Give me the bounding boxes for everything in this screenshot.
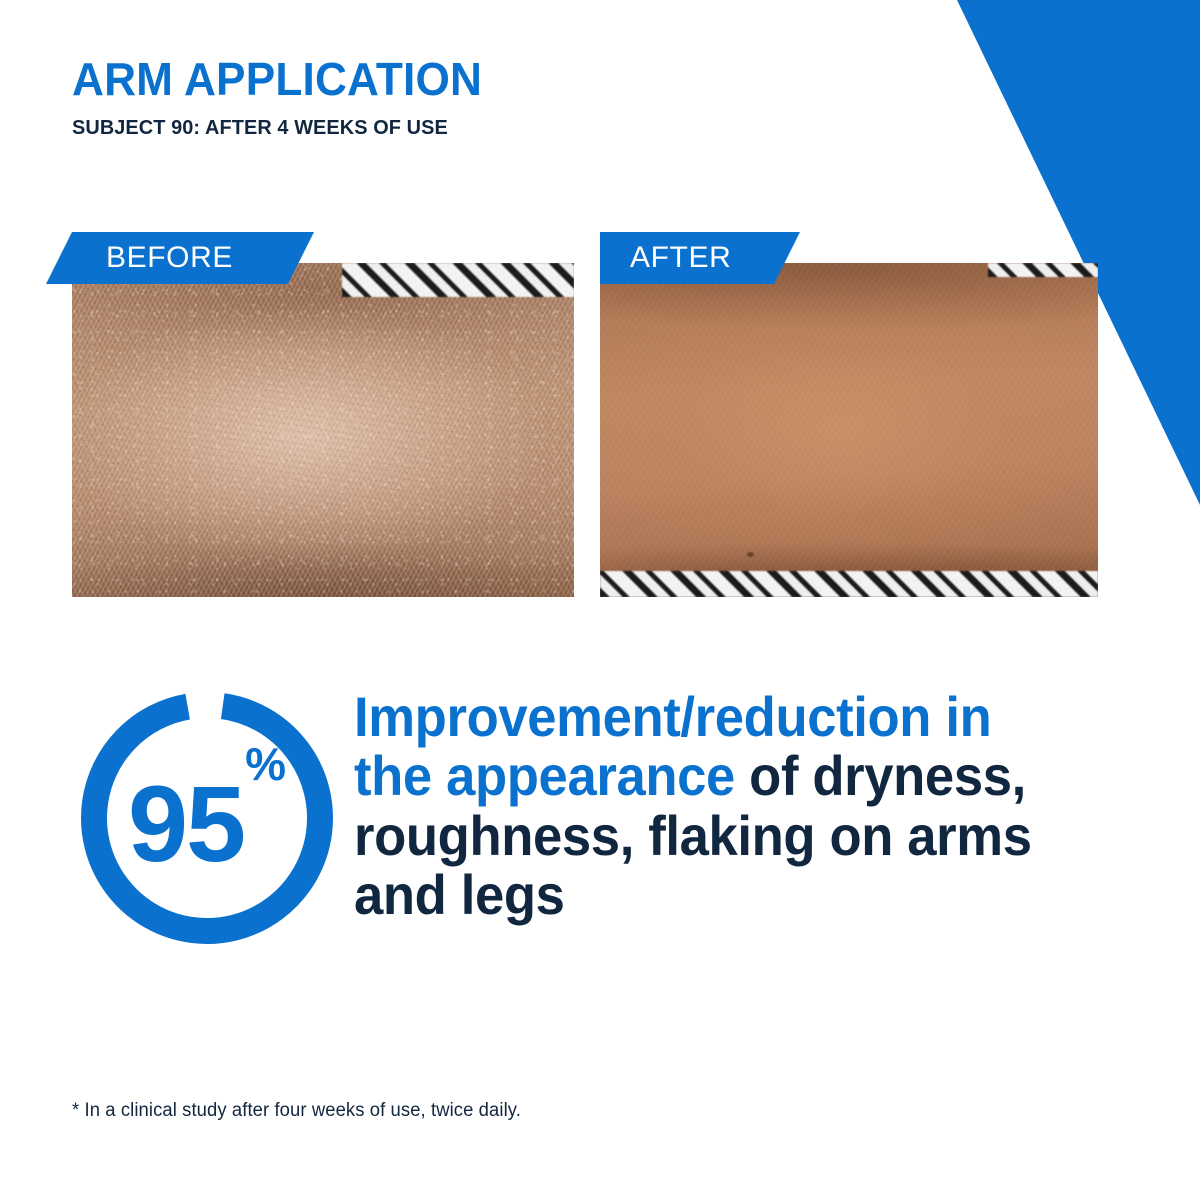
stat-row: 95 % Improvement/reduction in the appear… xyxy=(72,683,1132,953)
page-title: ARM APPLICATION xyxy=(72,56,482,102)
after-smooth-texture xyxy=(600,263,1098,597)
before-flag-label: BEFORE xyxy=(46,232,314,284)
before-fabric-pattern xyxy=(342,263,574,297)
after-photo xyxy=(600,263,1098,597)
subject-detail: AFTER 4 WEEKS OF USE xyxy=(200,116,448,139)
percent-donut-chart: 95 % xyxy=(72,683,342,953)
before-flag-text: BEFORE xyxy=(106,243,233,273)
after-fabric-pattern-bottom xyxy=(600,571,1098,597)
header: ARM APPLICATION SUBJECT 90: AFTER 4 WEEK… xyxy=(72,56,499,139)
after-fabric-pattern-top xyxy=(988,263,1098,277)
subject-label: SUBJECT 90: xyxy=(72,116,200,139)
percent-symbol: % xyxy=(245,741,286,787)
donut-center-label: 95 % xyxy=(72,683,342,953)
blue-corner-wedge-icon xyxy=(0,0,1200,1200)
claim-statement: Improvement/reduction in the appearance … xyxy=(354,683,1068,924)
before-ash-speckle xyxy=(72,263,574,597)
footnote: * In a clinical study after four weeks o… xyxy=(72,1100,521,1122)
after-flag-text: AFTER xyxy=(630,243,731,273)
before-photo xyxy=(72,263,574,597)
after-skin-mole xyxy=(747,552,754,557)
percent-value: 95 xyxy=(128,770,244,878)
infographic-page: ARM APPLICATION SUBJECT 90: AFTER 4 WEEK… xyxy=(0,0,1200,1200)
subject-line: SUBJECT 90: AFTER 4 WEEKS OF USE xyxy=(72,118,486,139)
after-flag-label: AFTER xyxy=(600,232,800,284)
